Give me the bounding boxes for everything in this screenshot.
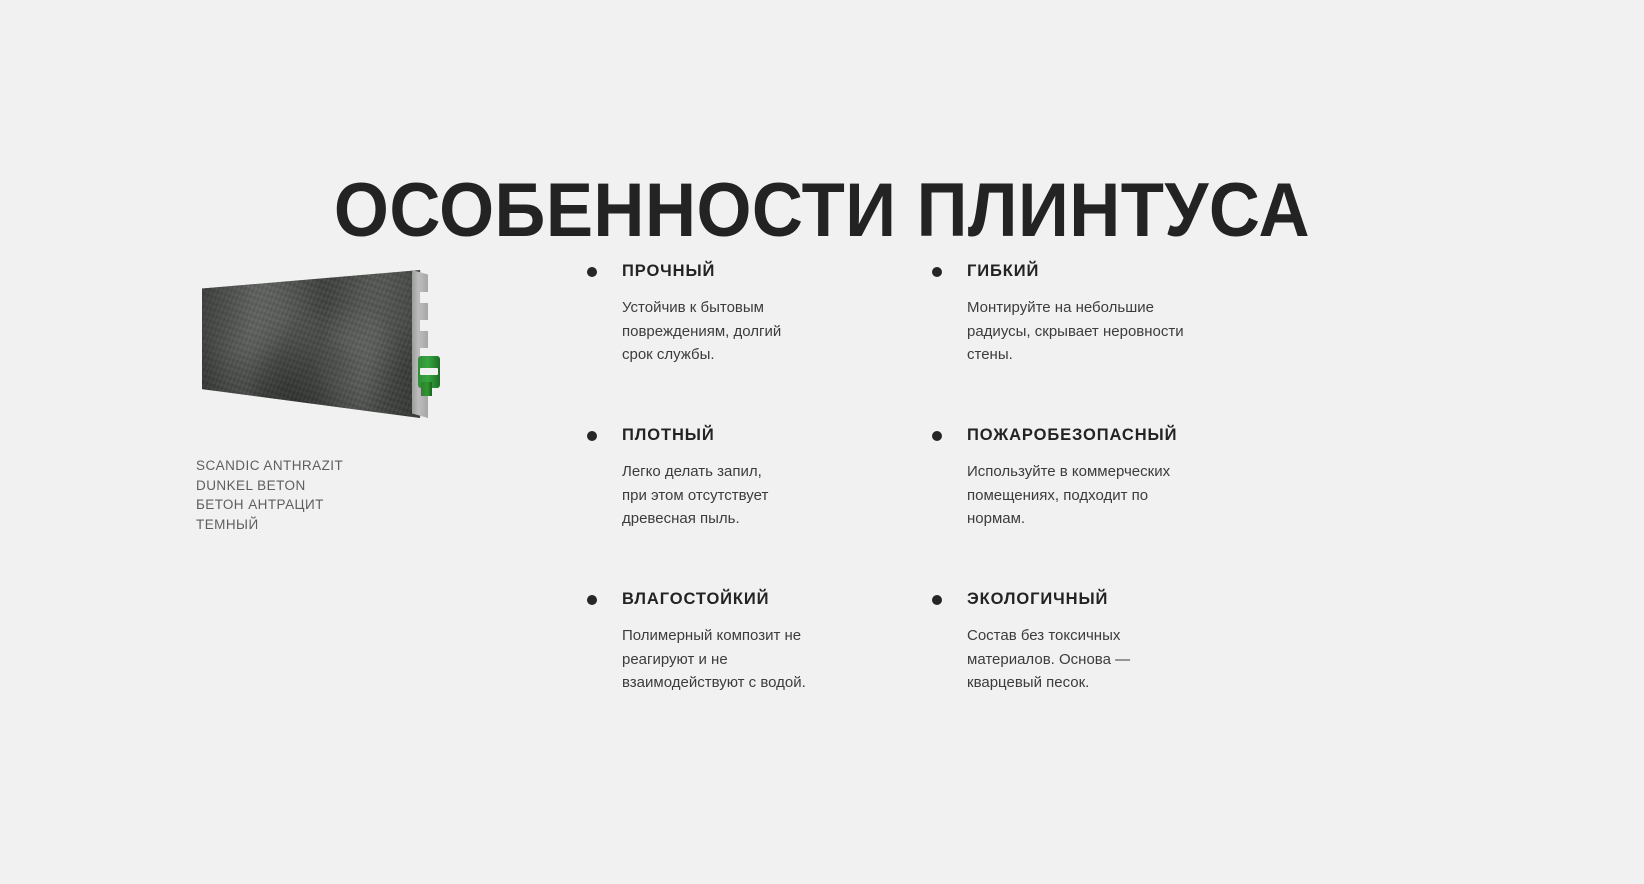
feature-title: ВЛАГОСТОЙКИЙ: [622, 590, 769, 609]
feature-header: ПОЖАРОБЕЗОПАСНЫЙ: [929, 426, 1284, 445]
bullet-icon: [587, 431, 597, 441]
feature-header: ЭКОЛОГИЧНЫЙ: [929, 590, 1284, 609]
feature-title: ПОЖАРОБЕЗОПАСНЫЙ: [967, 426, 1177, 445]
page-title: ОСОБЕННОСТИ ПЛИНТУСА: [58, 169, 1587, 253]
feature-title: ПЛОТНЫЙ: [622, 426, 715, 445]
feature-item-plotnyy: ПЛОТНЫЙ Легко делать запил, при этом отс…: [584, 426, 929, 590]
feature-item-gibkiy: ГИБКИЙ Монтируйте на небольшие радиусы, …: [929, 262, 1284, 426]
bullet-icon: [932, 595, 942, 605]
bullet-icon: [587, 595, 597, 605]
feature-description: Полимерный композит не реагируют и не вз…: [622, 624, 922, 695]
feature-title: ГИБКИЙ: [967, 262, 1039, 281]
product-caption-line: DUNKEL BETON: [196, 476, 526, 496]
product-caption-line: ТЕМНЫЙ: [196, 515, 526, 535]
bullet-icon: [587, 267, 597, 277]
feature-header: ГИБКИЙ: [929, 262, 1284, 281]
edge-notch-icon: [420, 320, 429, 331]
feature-header: ПЛОТНЫЙ: [584, 426, 929, 445]
green-mounting-clip-tail: [421, 382, 432, 396]
edge-notch-icon: [420, 292, 429, 303]
feature-item-ekologichnyy: ЭКОЛОГИЧНЫЙ Состав без токсичных материа…: [929, 590, 1284, 754]
feature-description: Легко делать запил, при этом отсутствует…: [622, 460, 922, 531]
feature-list: ПРОЧНЫЙ Устойчив к бытовым повреждениям,…: [584, 262, 1284, 754]
product-block: SCANDIC ANTHRAZIT DUNKEL BETON БЕТОН АНТ…: [196, 262, 526, 534]
feature-item-prochnyy: ПРОЧНЫЙ Устойчив к бытовым повреждениям,…: [584, 262, 929, 426]
feature-title: ЭКОЛОГИЧНЫЙ: [967, 590, 1108, 609]
product-image: [196, 262, 446, 422]
product-caption: SCANDIC ANTHRAZIT DUNKEL BETON БЕТОН АНТ…: [196, 456, 526, 534]
page-root: ОСОБЕННОСТИ ПЛИНТУСА SCANDIC ANTHRAZIT D…: [0, 0, 1644, 884]
feature-header: ВЛАГОСТОЙКИЙ: [584, 590, 929, 609]
feature-description: Используйте в коммерческих помещениях, п…: [967, 460, 1267, 531]
product-caption-line: БЕТОН АНТРАЦИТ: [196, 495, 526, 515]
feature-item-vlagostoykiy: ВЛАГОСТОЙКИЙ Полимерный композит не реаг…: [584, 590, 929, 754]
feature-description: Устойчив к бытовым повреждениям, долгий …: [622, 296, 922, 367]
skirting-board-face: [202, 270, 428, 418]
bullet-icon: [932, 431, 942, 441]
feature-title: ПРОЧНЫЙ: [622, 262, 715, 281]
feature-description: Состав без токсичных материалов. Основа …: [967, 624, 1267, 695]
feature-description: Монтируйте на небольшие радиусы, скрывае…: [967, 296, 1267, 367]
feature-item-pozharobezopasnyy: ПОЖАРОБЕЗОПАСНЫЙ Используйте в коммерчес…: [929, 426, 1284, 590]
feature-header: ПРОЧНЫЙ: [584, 262, 929, 281]
bullet-icon: [932, 267, 942, 277]
product-caption-line: SCANDIC ANTHRAZIT: [196, 456, 526, 476]
